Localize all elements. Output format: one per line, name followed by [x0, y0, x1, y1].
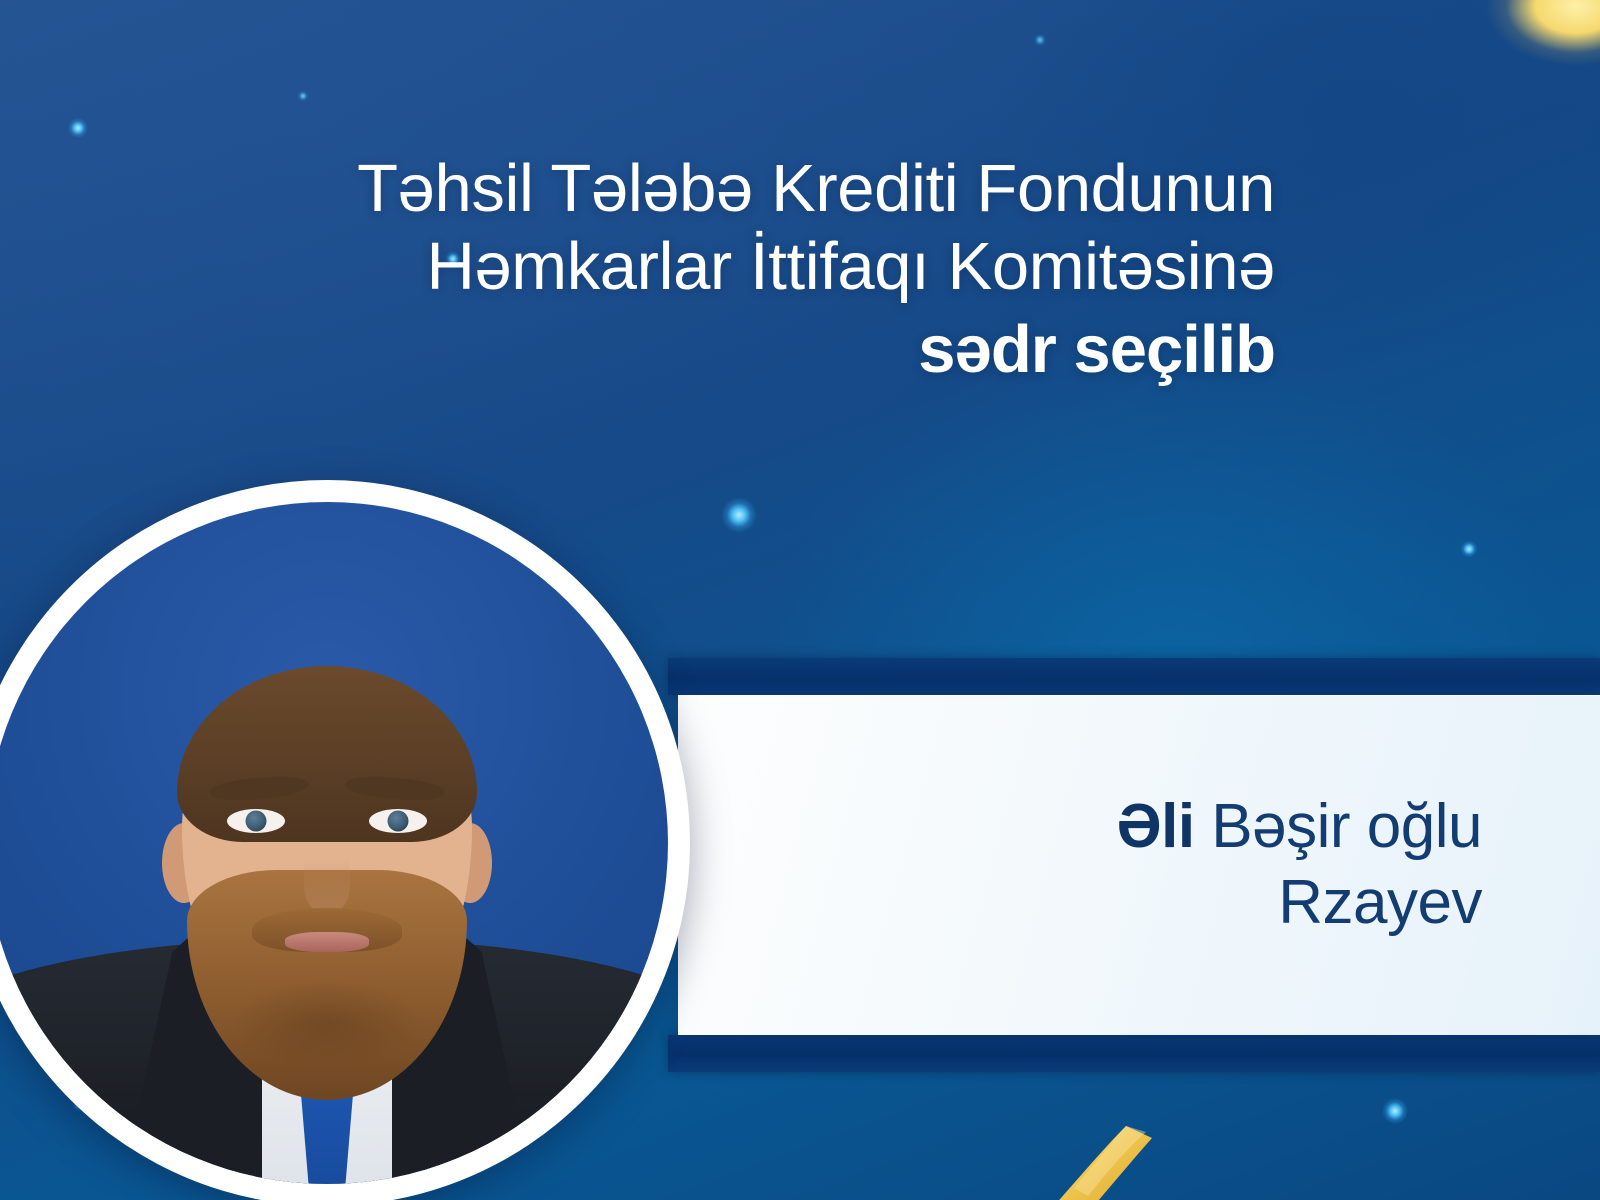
iris-right — [388, 810, 409, 831]
person-name: Əli Bəşir oğlu Rzayev — [1117, 789, 1600, 940]
person-surname: Rzayev — [1117, 865, 1482, 941]
sparkle-icon — [296, 89, 310, 103]
hair — [177, 666, 477, 842]
eye-right — [369, 809, 427, 833]
announcement-card: Təhsil Tələbə Krediti Fondunun Həmkarlar… — [0, 0, 1600, 1200]
sparkle-icon — [1032, 32, 1048, 48]
sparkle-icon — [1458, 538, 1480, 560]
name-panel: Əli Bəşir oğlu Rzayev — [678, 695, 1600, 1035]
sparkle-icon — [1378, 1094, 1412, 1128]
headline-line-2: Həmkarlar İttifaqı Komitəsinə — [230, 228, 1275, 306]
person-first-name: Əli — [1117, 792, 1195, 861]
mouth — [285, 932, 369, 952]
sparkle-icon — [716, 492, 762, 538]
gold-ribbon-icon — [1030, 1118, 1220, 1200]
nose — [304, 857, 350, 915]
chin-shadow — [232, 979, 422, 1069]
person-patronymic: Bəşir oğlu — [1211, 792, 1482, 861]
headline-emphasis: sədr seçilib — [230, 311, 1275, 389]
gold-confetti-icon — [1486, 0, 1600, 66]
iris-left — [246, 810, 267, 831]
headline: Təhsil Tələbə Krediti Fondunun Həmkarlar… — [230, 150, 1275, 389]
divider-rule-bottom — [668, 1035, 1600, 1072]
eye-left — [227, 809, 285, 833]
portrait-frame — [0, 480, 690, 1200]
headline-line-1: Təhsil Tələbə Krediti Fondunun — [230, 150, 1275, 228]
portrait-photo — [0, 502, 668, 1184]
sparkle-icon — [65, 115, 91, 141]
divider-rule-top — [668, 658, 1600, 695]
